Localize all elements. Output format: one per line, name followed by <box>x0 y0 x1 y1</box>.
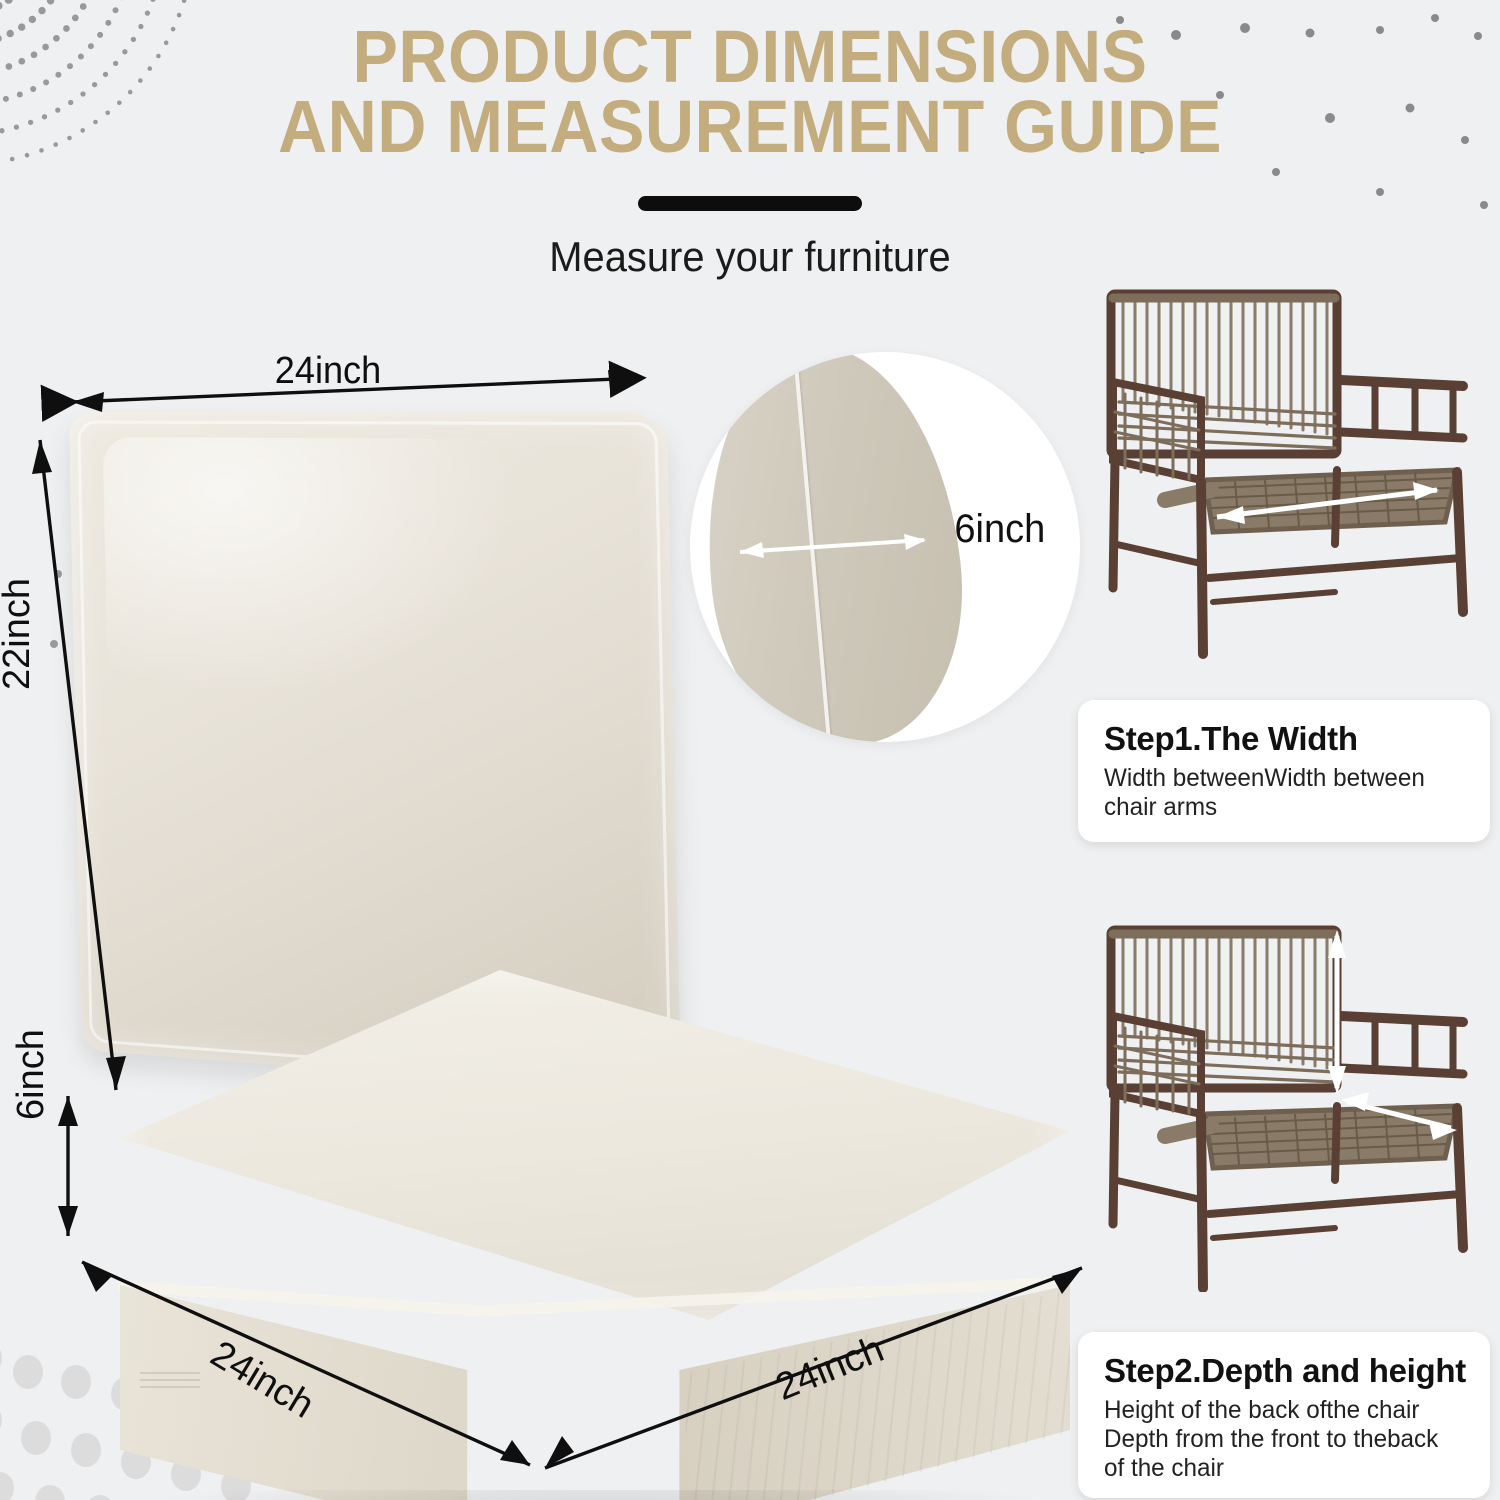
inset-thickness-arrow <box>728 532 938 560</box>
step1-title: Step1.The Width <box>1104 720 1466 758</box>
dimension-label-back-height: 22inch <box>0 578 39 690</box>
step2-title: Step2.Depth and height <box>1104 1352 1466 1390</box>
seat-cushion-side-texture <box>460 1290 1070 1500</box>
seat-cushion-label-tag <box>140 1370 200 1388</box>
step1-card[interactable]: Step1.The Width Width betweenWidth betwe… <box>1078 700 1490 842</box>
step2-body: Height of the back ofthe chair Depth fro… <box>1104 1396 1455 1483</box>
infographic-page: PRODUCT DIMENSIONS AND MEASUREMENT GUIDE… <box>0 0 1500 1500</box>
cushion-edge-zoom-inset: 6inch <box>690 352 1080 742</box>
chair-photo-depth-height <box>1085 902 1485 1292</box>
cushion-ground-shadow <box>110 1490 1100 1500</box>
title-underline-rule <box>638 196 862 211</box>
back-cushion <box>69 412 682 1096</box>
dimension-label-top-width: 24inch <box>275 350 381 393</box>
page-subtitle: Measure your furniture <box>38 233 1463 281</box>
dimension-label-seat-thickness: 6inch <box>10 1029 53 1120</box>
step1-body: Width betweenWidth between chair arms <box>1104 764 1455 822</box>
seat-cushion-front-face <box>120 1285 680 1500</box>
step2-card[interactable]: Step2.Depth and height Height of the bac… <box>1078 1332 1490 1498</box>
chair-photo-width <box>1085 282 1485 672</box>
back-cushion-highlight <box>103 438 522 708</box>
inset-dimension-label: 6inch <box>954 507 1045 552</box>
page-title: PRODUCT DIMENSIONS AND MEASUREMENT GUIDE <box>60 22 1440 163</box>
